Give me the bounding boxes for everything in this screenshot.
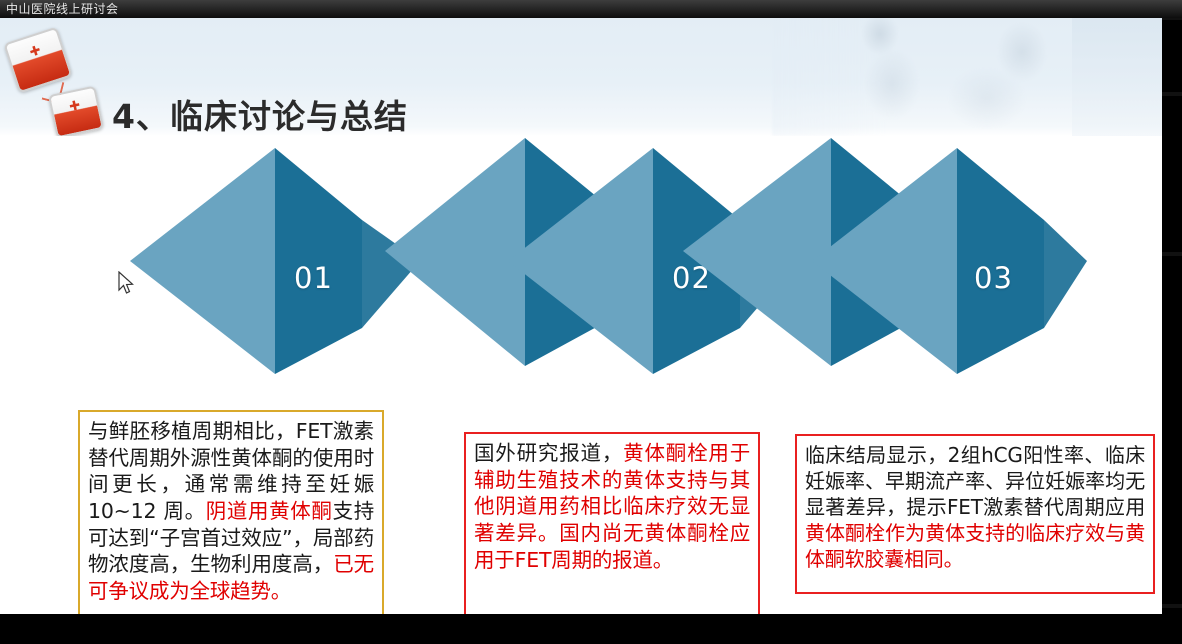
callout-box-3-text: 临床结局显示，2组hCG阳性率、临床妊娠率、早期流产率、异位妊娠率均无显著差异，… [805,442,1145,572]
seg-b1-1: 阴道用黄体酮 [206,499,333,523]
step-number-03: 03 [974,261,1013,295]
seg-b3-0: 临床结局显示，2组hCG阳性率、临床妊娠率、早期流产率、异位妊娠率均无显著差异，… [805,443,1145,519]
callout-box-2-text: 国外研究报道，黄体酮栓用于辅助生殖技术的黄体支持与其他阴道用药相比临床疗效无显著… [474,440,750,573]
blood-bag-graphic: ✚ ✚ [0,22,120,136]
slide-title: 4、临床讨论与总结 [112,90,408,136]
seg-b2-0: 国外研究报道， [474,441,623,465]
header-background-photo [772,18,1102,136]
callout-box-2: 国外研究报道，黄体酮栓用于辅助生殖技术的黄体支持与其他阴道用药相比临床疗效无显著… [464,432,760,614]
step-diamond-01: 01 [130,136,410,386]
mouse-cursor [118,271,136,297]
seg-b3-1: 黄体酮栓作为黄体支持的临床疗效与黄体酮软胶囊相同。 [805,521,1145,571]
step-number-01: 01 [294,261,333,295]
callout-box-1: 与鲜胚移植周期相比，FET激素替代周期外源性黄体酮的使用时间更长，通常需维持至妊… [78,410,384,614]
callout-box-3: 临床结局显示，2组hCG阳性率、临床妊娠率、早期流产率、异位妊娠率均无显著差异，… [795,434,1155,594]
presentation-slide: ✚ ✚ 4、临床讨论与总结 01 [0,18,1162,614]
window-title: 中山医院线上研讨会 [6,2,119,16]
app-window: 中山医院线上研讨会 ✚ ✚ 4、临床讨论与总结 [0,0,1182,644]
step-diamond-row: 01 02 [0,136,1162,406]
slide-header-band: ✚ ✚ 4、临床讨论与总结 [0,18,1162,136]
window-titlebar: 中山医院线上研讨会 [0,0,1182,18]
header-background-photo-right [1072,18,1162,136]
callout-box-1-text: 与鲜胚移植周期相比，FET激素替代周期外源性黄体酮的使用时间更长，通常需维持至妊… [88,418,374,604]
blood-bag-icon-2: ✚ [48,85,104,136]
step-diamond-03: 03 [812,136,1092,386]
right-black-gutter [1162,0,1182,644]
